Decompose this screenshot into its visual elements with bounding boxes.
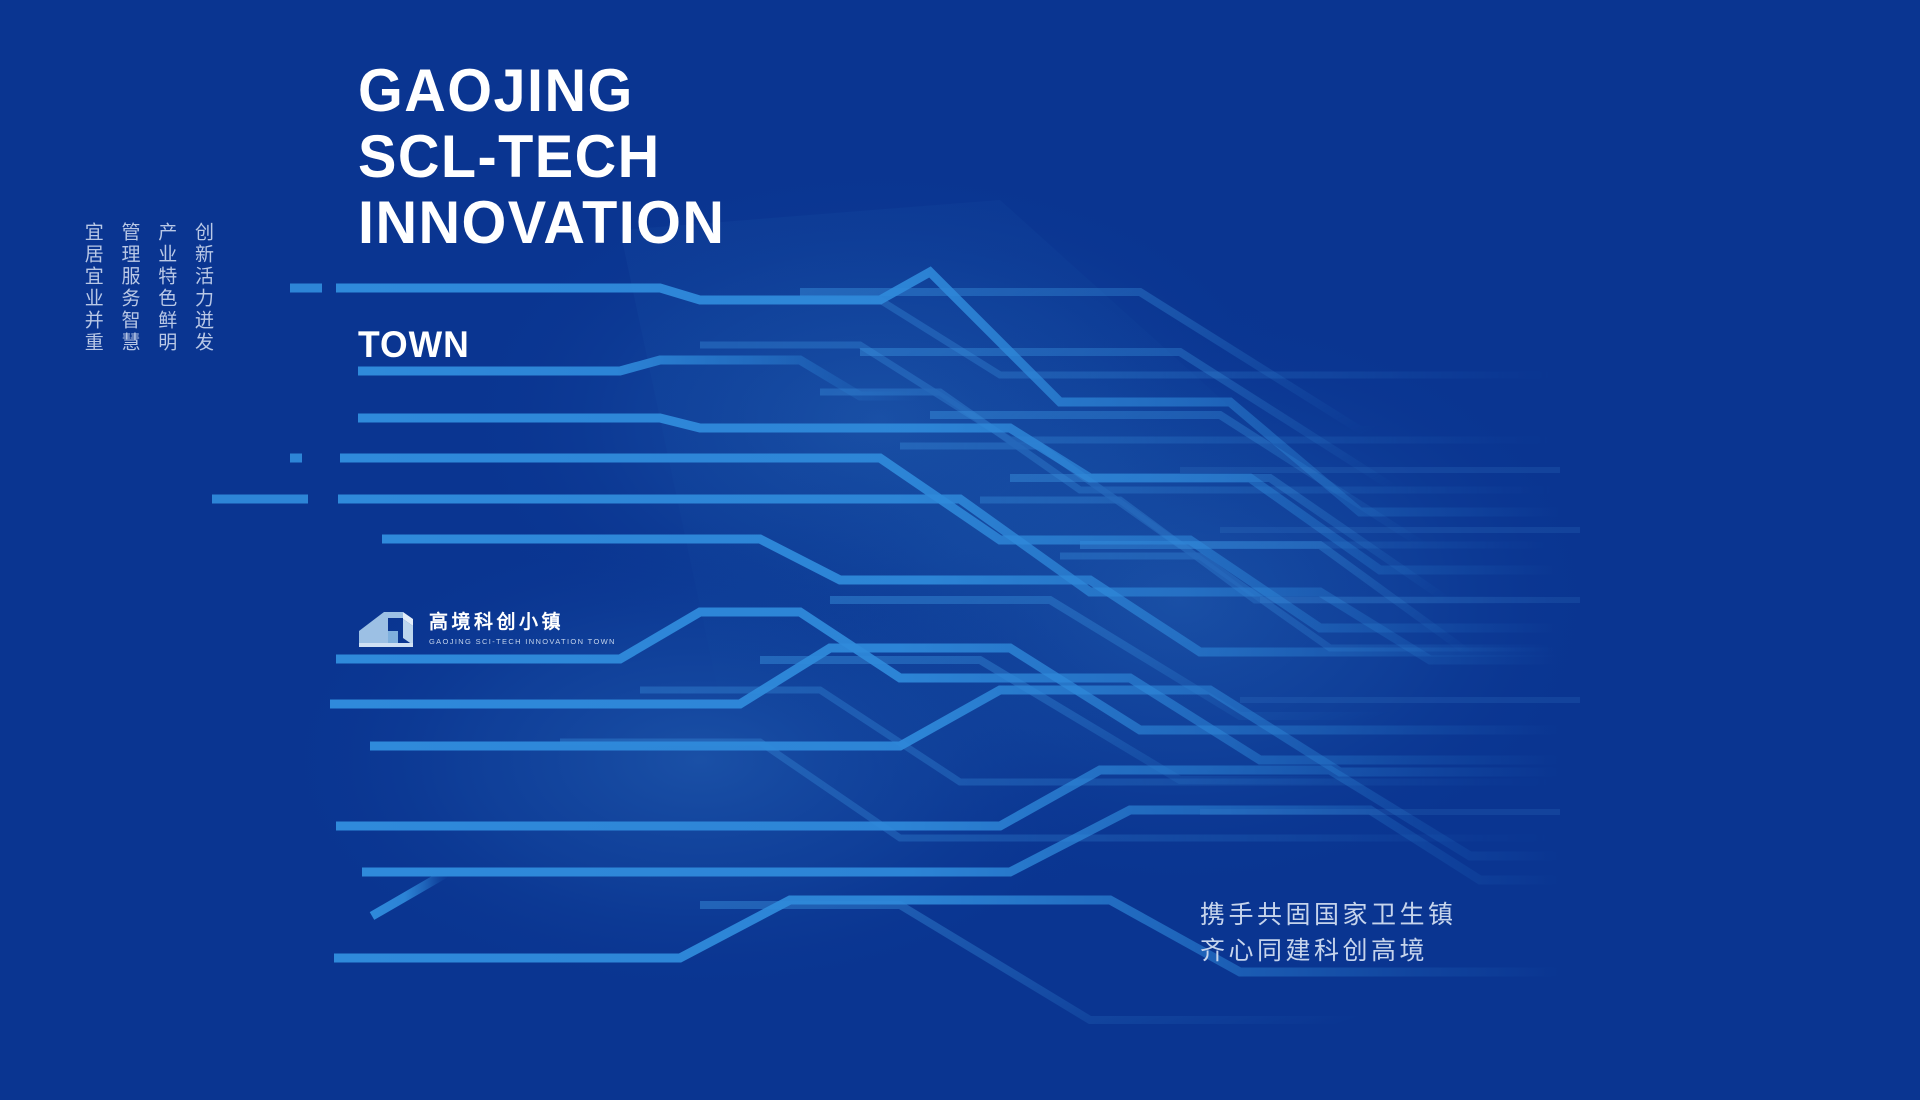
circuit-line-artwork <box>0 0 1920 1100</box>
bottom-slogan-line-2: 齐心同建科创高境 <box>1200 933 1457 969</box>
brand-logo-lockup: 高境科创小镇 GAOJING SCI-TECH INNOVATION TOWN <box>356 605 616 653</box>
logo-english-name: GAOJING SCI-TECH INNOVATION TOWN <box>429 636 616 648</box>
bottom-slogan-block: 携手共固国家卫生镇 齐心同建科创高境 <box>1200 897 1457 969</box>
vertical-slogan-block: 创新活力迸发 产业特色鲜明 管理服务智慧 宜居宜业并重 <box>78 222 216 354</box>
poster-canvas: 创新活力迸发 产业特色鲜明 管理服务智慧 宜居宜业并重 GAOJING SCL-… <box>0 0 1920 1100</box>
vertical-slogan-column-2: 产业特色鲜明 <box>151 222 179 354</box>
vertical-slogan-column-1: 创新活力迸发 <box>188 222 216 354</box>
headline-line-2: SCL-TECH <box>358 124 725 190</box>
bottom-slogan-line-1: 携手共固国家卫生镇 <box>1200 897 1457 933</box>
logo-chinese-name: 高境科创小镇 <box>429 610 616 634</box>
house-building-icon <box>356 605 418 653</box>
vertical-slogan-column-4: 宜居宜业并重 <box>78 222 106 354</box>
vertical-slogan-column-3: 管理服务智慧 <box>115 222 143 354</box>
page-title: GAOJING SCL-TECH INNOVATION <box>358 58 741 256</box>
logo-text-block: 高境科创小镇 GAOJING SCI-TECH INNOVATION TOWN <box>429 610 616 648</box>
headline-line-1: GAOJING <box>358 58 725 124</box>
headline-subword-town: TOWN <box>358 325 470 365</box>
headline-line-3: INNOVATION <box>358 190 725 256</box>
